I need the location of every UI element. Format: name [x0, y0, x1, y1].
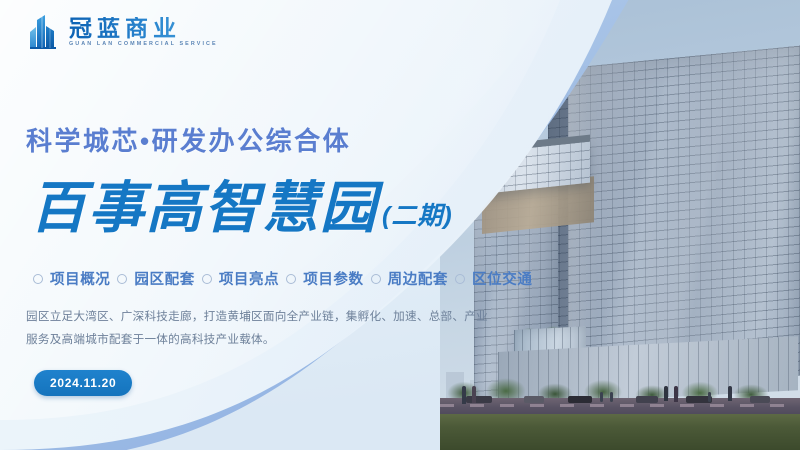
date-badge: 2024.11.20 [34, 370, 132, 396]
ring-dot-icon [286, 274, 296, 284]
car [750, 396, 770, 403]
ring-dot-icon [202, 274, 212, 284]
car [524, 396, 544, 403]
hero-content: 冠蓝商业 GUAN LAN COMMERCIAL SERVICE 科学城芯•研发… [0, 0, 520, 450]
promo-banner: 冠蓝商业 GUAN LAN COMMERCIAL SERVICE 科学城芯•研发… [0, 0, 800, 450]
pedestrian [664, 386, 668, 401]
hero-subtitle: 科学城芯•研发办公综合体 [26, 121, 351, 158]
brand-name-cn: 冠蓝商业 [69, 17, 218, 40]
pedestrian [610, 392, 613, 402]
nav-item-overview[interactable]: 项目概况 [50, 268, 110, 289]
pedestrian [728, 386, 732, 401]
building-towers-icon [28, 14, 60, 50]
car [636, 396, 658, 403]
nav-item-parameters[interactable]: 项目参数 [303, 268, 363, 289]
brand-name-en: GUAN LAN COMMERCIAL SERVICE [69, 41, 218, 47]
brand-logo[interactable]: 冠蓝商业 GUAN LAN COMMERCIAL SERVICE [28, 14, 218, 50]
project-name: 百事高智慧园 [30, 180, 378, 236]
nav-item-location-transport[interactable]: 区位交通 [472, 268, 532, 289]
ring-dot-icon [33, 274, 43, 284]
pedestrian [708, 392, 711, 402]
nav-item-surroundings[interactable]: 周边配套 [388, 268, 448, 289]
page-title: 百事高智慧园 (二期) [30, 180, 453, 236]
car [568, 396, 592, 403]
ring-dot-icon [455, 274, 465, 284]
pedestrian [674, 386, 678, 402]
brand-text: 冠蓝商业 GUAN LAN COMMERCIAL SERVICE [69, 17, 218, 47]
pedestrian [600, 392, 603, 402]
nav-item-highlights[interactable]: 项目亮点 [219, 268, 279, 289]
ring-dot-icon [117, 274, 127, 284]
project-phase: (二期) [382, 196, 453, 232]
ring-dot-icon [371, 274, 381, 284]
nav-item-park-facilities[interactable]: 园区配套 [134, 268, 194, 289]
description-text: 园区立足大湾区、广深科技走廊，打造黄埔区面向全产业链，集孵化、加速、总部、产业服… [26, 306, 496, 351]
section-nav[interactable]: 项目概况 园区配套 项目亮点 项目参数 周边配套 区位交通 [26, 268, 532, 289]
